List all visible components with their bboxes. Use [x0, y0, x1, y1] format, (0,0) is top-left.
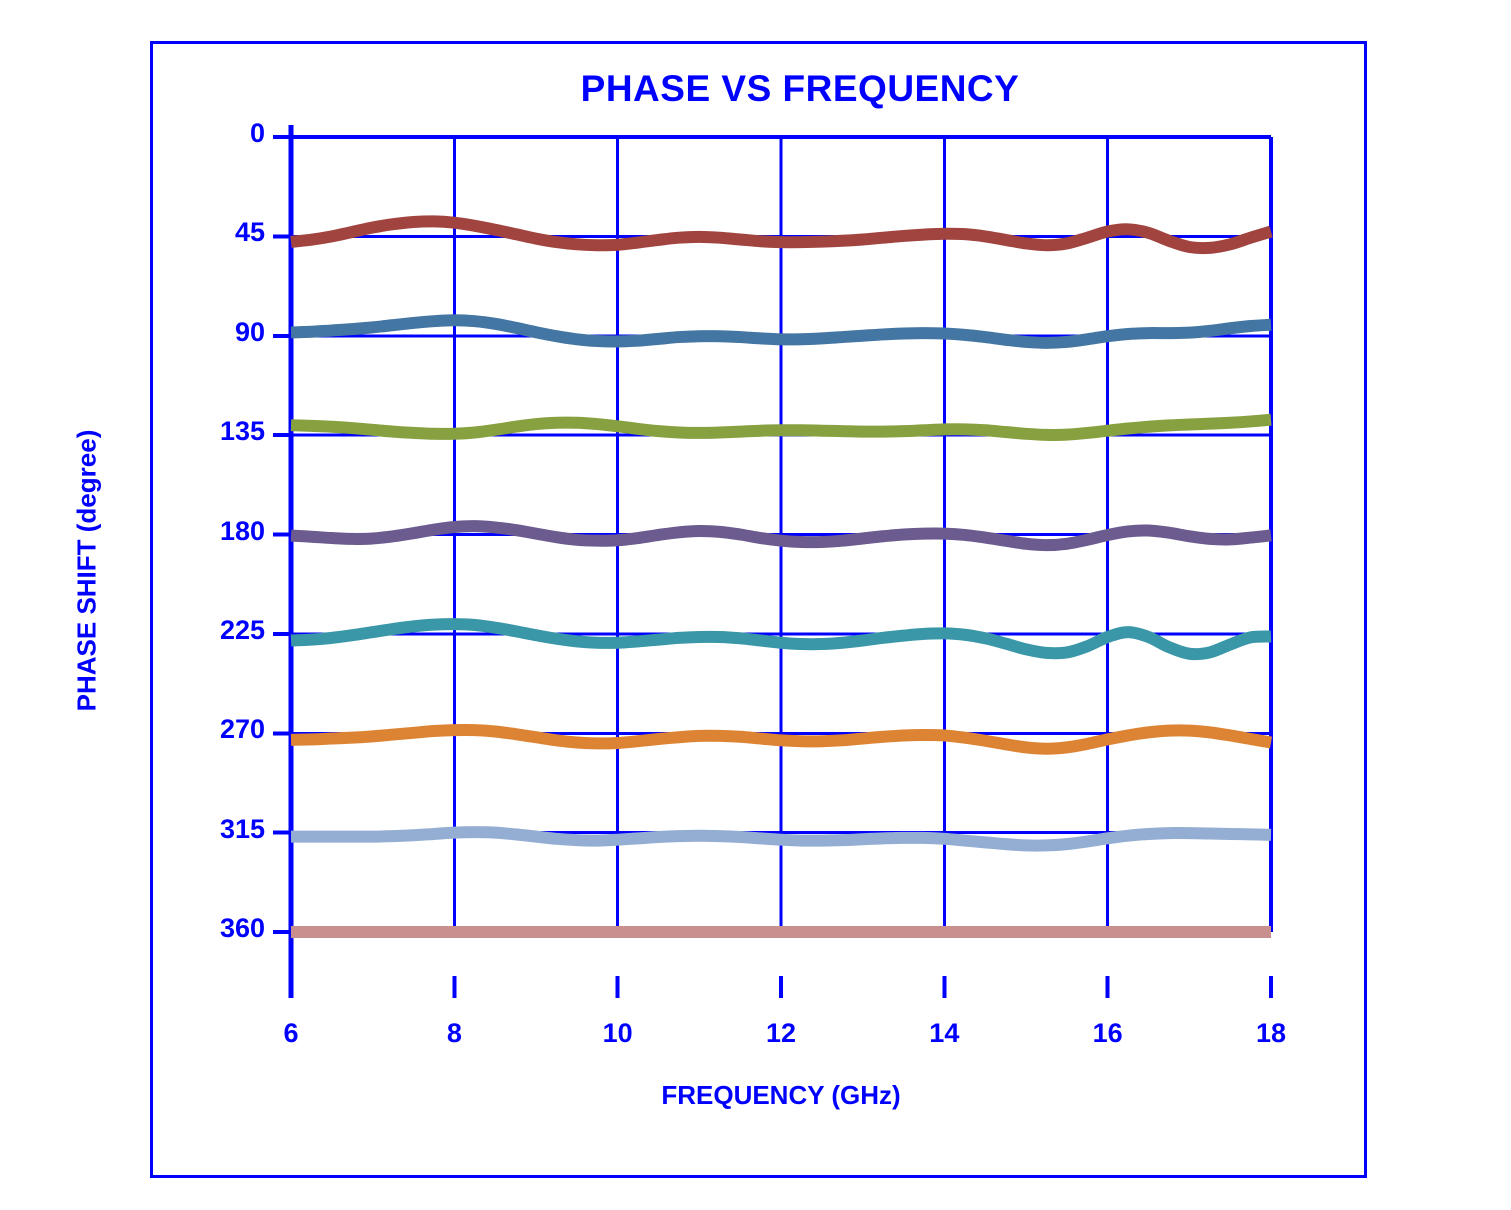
tick-marks — [273, 137, 1271, 998]
x-axis-title: FREQUENCY (GHz) — [481, 1080, 1081, 1111]
y-tick-label: 360 — [185, 913, 265, 944]
x-tick-label: 12 — [741, 1018, 821, 1049]
y-tick-label: 270 — [185, 714, 265, 745]
y-tick-label: 45 — [185, 217, 265, 248]
x-tick-label: 14 — [904, 1018, 984, 1049]
y-tick-label: 180 — [185, 516, 265, 547]
x-tick-label: 18 — [1231, 1018, 1311, 1049]
y-tick-label: 135 — [185, 416, 265, 447]
figure-canvas: PHASE VS FREQUENCY 045901351802252703153… — [0, 0, 1511, 1210]
data-curve-7 — [291, 832, 1271, 845]
y-tick-label: 225 — [185, 615, 265, 646]
x-tick-label: 6 — [251, 1018, 331, 1049]
y-tick-label: 315 — [185, 814, 265, 845]
y-tick-label: 90 — [185, 317, 265, 348]
x-tick-label: 10 — [578, 1018, 658, 1049]
x-tick-label: 8 — [414, 1018, 494, 1049]
y-tick-label: 0 — [185, 118, 265, 149]
x-tick-label: 16 — [1068, 1018, 1148, 1049]
y-axis-title: PHASE SHIFT (degree) — [72, 361, 103, 781]
